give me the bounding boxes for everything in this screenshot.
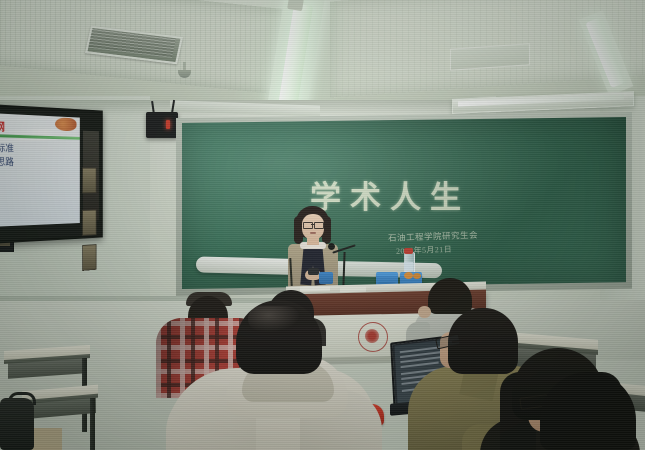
grey-shirt-attendee-head: [428, 278, 472, 314]
crate-contents: [404, 272, 413, 279]
slide-bullet-1: 程及评分标准: [0, 139, 14, 154]
crate-contents: [413, 273, 421, 279]
bottle-cap: [404, 248, 413, 254]
screen-side-rail: [83, 131, 99, 221]
router-led-indicator: [166, 120, 170, 129]
blue-crate-rim: [376, 272, 398, 276]
blue-cup: [319, 272, 333, 284]
backpack: [0, 398, 34, 450]
lecture-hall-photo: 课 提 纲 程及评分标准 求及设计思路 题 学术人生 石油工程学院研究生会 20…: [0, 0, 645, 450]
rail-plate: [82, 210, 96, 236]
rail-plate: [82, 168, 96, 194]
speaker-mouth: [310, 232, 316, 234]
slide-bullet-2: 求及设计思路: [0, 154, 14, 169]
projector-screen[interactable]: 课 提 纲 程及评分标准 求及设计思路 题: [0, 104, 103, 244]
glasses-bridge: [311, 224, 314, 225]
university-crest-center: [365, 329, 379, 343]
podium-papers: [300, 286, 330, 292]
grey-shirt-attendee-hand: [418, 306, 431, 318]
blackboard-headline: 学术人生: [300, 172, 480, 217]
glasses-icon: [314, 222, 324, 229]
speaker-necklace: [304, 246, 322, 253]
rail-plate: [82, 244, 96, 271]
microphone-icon: [328, 243, 335, 250]
slide-surface: 课 提 纲 程及评分标准 求及设计思路 题: [0, 113, 80, 227]
slide-logo-icon: [55, 117, 77, 131]
desk-leg: [90, 398, 95, 450]
presenter-remote-icon: [308, 268, 319, 275]
podium-papers: [340, 287, 366, 293]
wifi-router-icon: [146, 112, 178, 138]
skirting-board: [0, 296, 200, 301]
slide-title: 课 提 纲: [0, 117, 6, 135]
document-text-line: [401, 361, 439, 367]
hair-highlight: [248, 306, 300, 332]
bottle-label: [404, 262, 413, 271]
